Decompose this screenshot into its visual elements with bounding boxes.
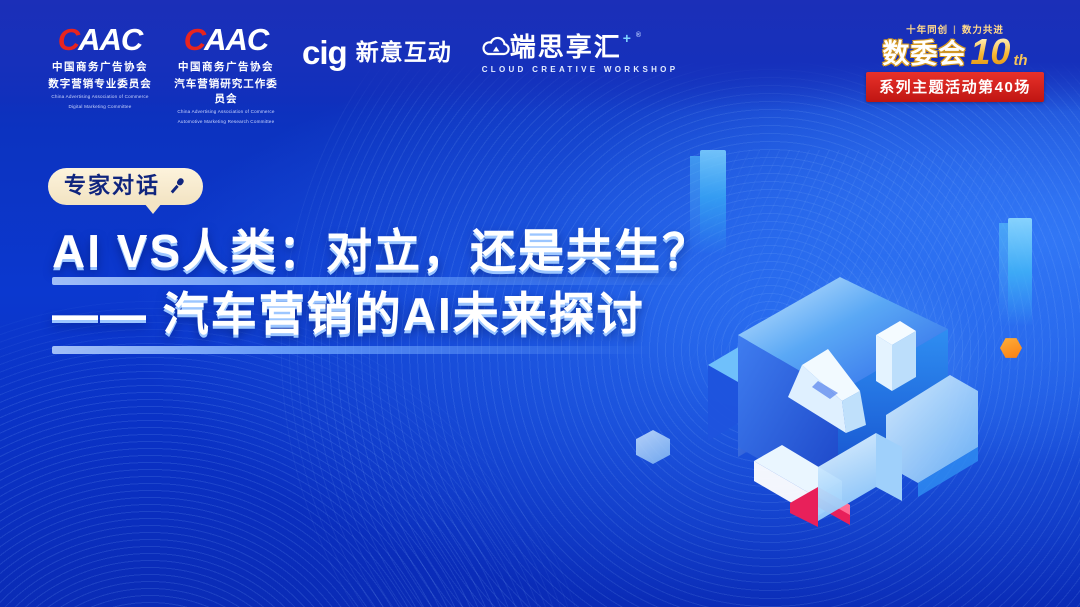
logo-caac-digital-marketing: CAAC 中国商务广告协会 数字营销专业委员会 China Advertisin…: [44, 24, 156, 111]
title-line-1: AI VS人类：对立，还是共生？: [52, 222, 732, 281]
anniversary-number: 10: [970, 37, 1010, 68]
microphone-icon: [167, 176, 187, 196]
logo-cn-line1: 中国商务广告协会: [44, 59, 156, 74]
logo-cloud-creative-workshop: 端思享汇 + ® CLOUD CREATIVE WORKSHOP: [482, 24, 679, 74]
cloud-chinese-name: 端思享汇: [510, 34, 622, 60]
badge-tail-decoration: [144, 203, 162, 214]
expert-dialogue-badge: 专家对话: [48, 168, 203, 205]
caac-letters-aac: AAC: [204, 24, 268, 55]
logo-caac-automotive-marketing: CAAC 中国商务广告协会 汽车营销研究工作委员会 China Advertis…: [170, 24, 282, 126]
poster-title: AI VS人类：对立，还是共生？ —— 汽车营销的AI未来探讨: [52, 222, 732, 354]
anniversary-slogan-separator: |: [953, 24, 957, 35]
logo-en-line2: Digital Marketing Committee: [44, 104, 156, 111]
cloud-english-tagline: CLOUD CREATIVE WORKSHOP: [482, 65, 679, 74]
title-line-2: —— 汽车营销的AI未来探讨: [52, 285, 732, 344]
anniversary-organization: 数委会: [882, 41, 966, 68]
event-series-banner: 系列主题活动第40场: [866, 72, 1044, 102]
ai-cube-graphic: [690, 215, 1020, 535]
cig-chinese-name: 新意互动: [356, 41, 452, 64]
logo-en-line1: China Advertising Association of Commerc…: [44, 94, 156, 101]
anniversary-title-row: 数委会 10 th: [866, 37, 1044, 68]
logo-cig: cig 新意互动: [302, 24, 452, 69]
registered-mark: ®: [636, 32, 643, 39]
caac-wordmark: CAAC: [170, 24, 282, 55]
anniversary-badge: 十年同创 | 数力共进 数委会 10 th 系列主题活动第40场: [866, 22, 1044, 102]
anniversary-slogan-left: 十年同创: [906, 22, 948, 36]
caac-letters-aac: AAC: [78, 24, 142, 55]
caac-letter-c: C: [58, 24, 78, 55]
event-poster: CAAC 中国商务广告协会 数字营销专业委员会 China Advertisin…: [0, 0, 1080, 607]
title-underline-1: [52, 277, 692, 285]
cloud-logo-row: 端思享汇 + ®: [482, 34, 679, 60]
letter-i-emboss: [876, 321, 916, 391]
title-underline-2: [52, 346, 652, 354]
caac-wordmark: CAAC: [44, 24, 156, 55]
expert-dialogue-label: 专家对话: [64, 175, 160, 197]
logo-en-line2: Automotive Marketing Research Committee: [170, 119, 282, 126]
small-cube-decoration: [636, 430, 670, 464]
header-band: CAAC 中国商务广告协会 数字营销专业委员会 China Advertisin…: [0, 0, 1080, 112]
cig-wordmark: cig: [302, 36, 347, 69]
ai-cube-svg: [690, 215, 1020, 535]
anniversary-ordinal: th: [1013, 53, 1027, 68]
cloud-plus-mark: +: [623, 31, 633, 45]
expert-dialogue-badge-wrapper: 专家对话: [48, 168, 203, 205]
caac-letter-c: C: [184, 24, 204, 55]
cloud-icon: [482, 34, 510, 60]
logo-en-line1: China Advertising Association of Commerc…: [170, 109, 282, 116]
logo-cn-line2: 数字营销专业委员会: [44, 76, 156, 91]
anniversary-slogan: 十年同创 | 数力共进: [866, 22, 1044, 36]
logo-cn-line2: 汽车营销研究工作委员会: [170, 76, 282, 106]
logo-group: CAAC 中国商务广告协会 数字营销专业委员会 China Advertisin…: [44, 24, 678, 126]
logo-cn-line1: 中国商务广告协会: [170, 59, 282, 74]
